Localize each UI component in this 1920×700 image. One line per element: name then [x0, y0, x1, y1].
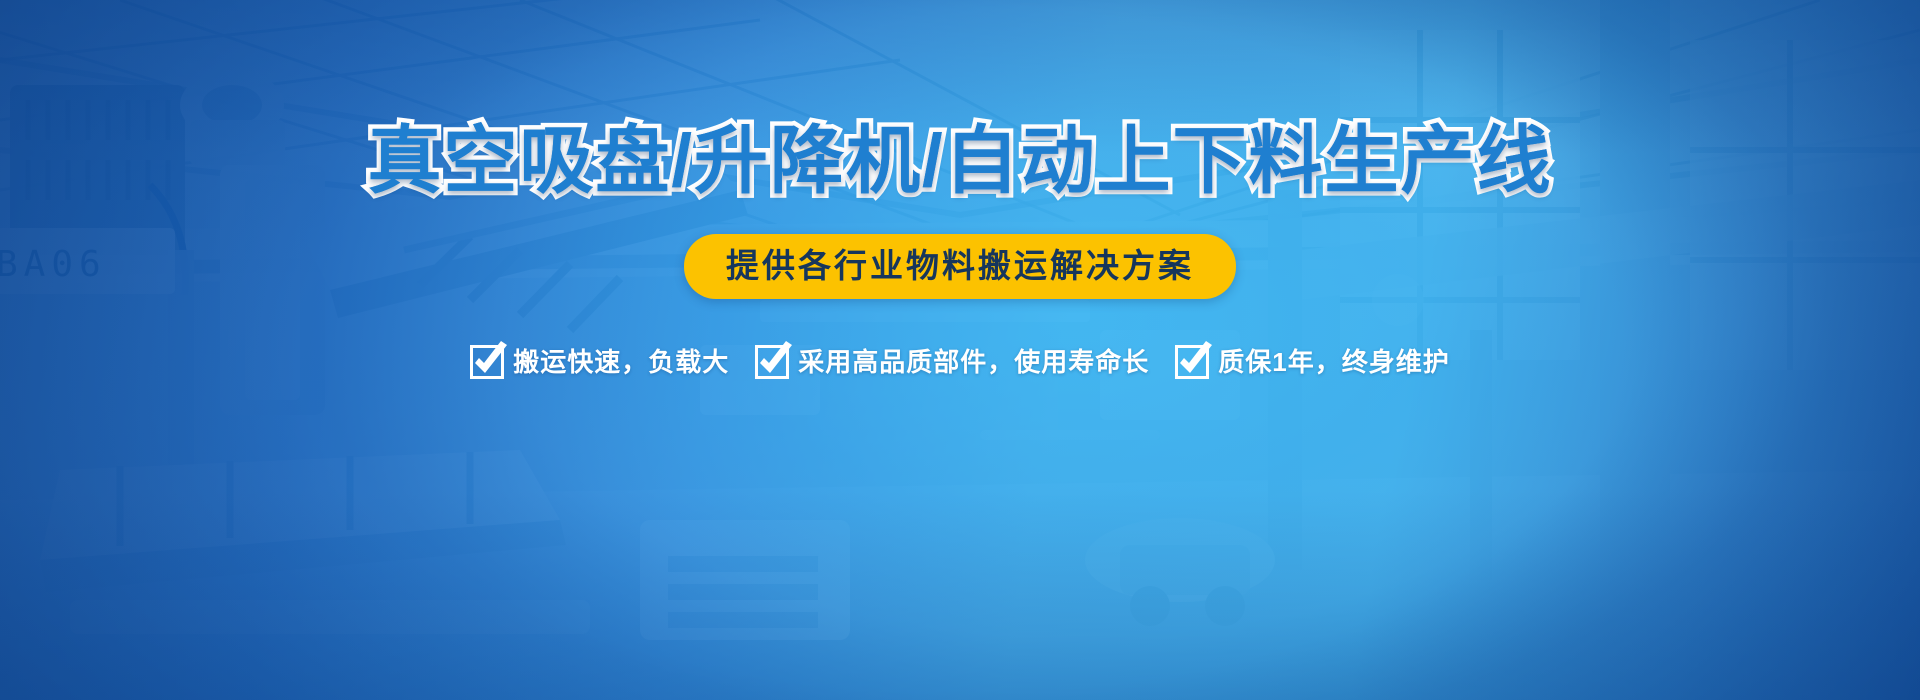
banner-title-wrap: 真空吸盘/升降机/自动上下料生产线 真空吸盘/升降机/自动上下料生产线: [367, 118, 1552, 204]
feature-item-2: 采用高品质部件，使用寿命长: [755, 345, 1149, 379]
checkbox-check-icon: [470, 345, 504, 379]
banner-content: 真空吸盘/升降机/自动上下料生产线 真空吸盘/升降机/自动上下料生产线 提供各行…: [0, 0, 1920, 700]
feature-label-3: 质保1年，终身维护: [1218, 349, 1449, 375]
feature-label-2: 采用高品质部件，使用寿命长: [798, 349, 1149, 375]
feature-list: 搬运快速，负载大 采用高品质部件，使用寿命长 质保1年，终身维护: [470, 345, 1450, 379]
feature-item-3: 质保1年，终身维护: [1175, 345, 1449, 379]
feature-item-1: 搬运快速，负载大: [470, 345, 729, 379]
feature-label-1: 搬运快速，负载大: [513, 349, 729, 375]
checkbox-check-icon: [1175, 345, 1209, 379]
banner-title: 真空吸盘/升降机/自动上下料生产线: [367, 118, 1552, 204]
hero-banner: BA06 真空吸盘/升降机/自动上下料生产线 真空吸盘/升降机/自动上下料生产线…: [0, 0, 1920, 700]
subtitle-badge: 提供各行业物料搬运解决方案: [684, 234, 1236, 299]
checkbox-check-icon: [755, 345, 789, 379]
